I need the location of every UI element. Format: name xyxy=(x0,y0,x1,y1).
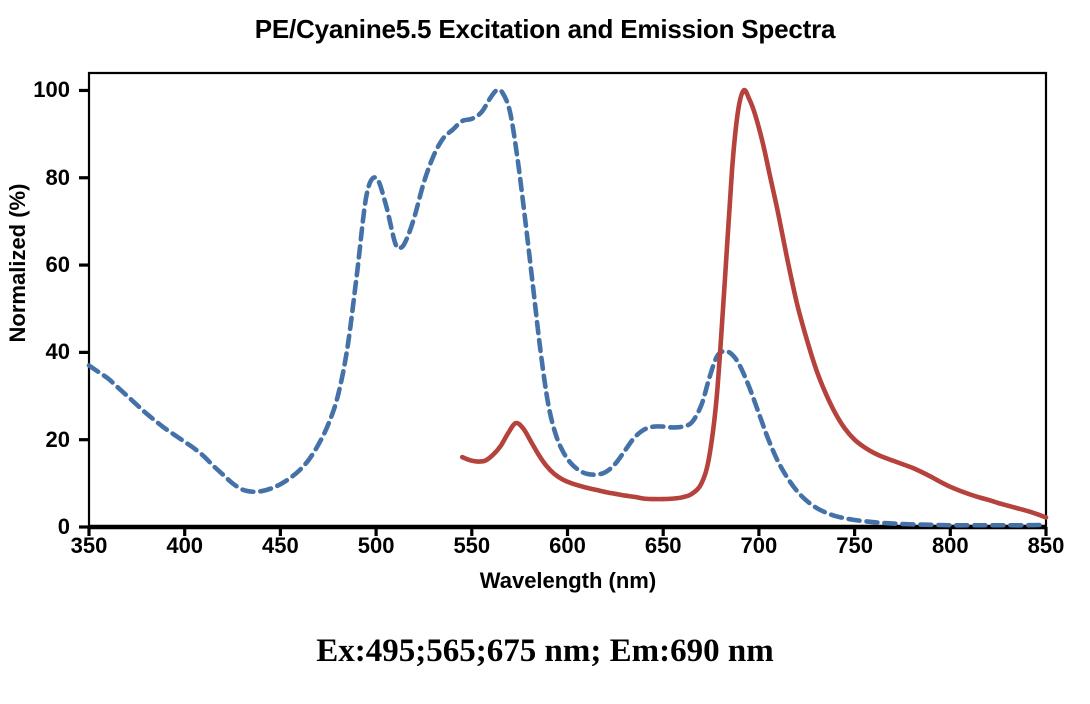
figure-caption: Ex:495;565;675 nm; Em:690 nm xyxy=(0,633,1090,670)
series-line-emission xyxy=(462,90,1046,517)
series-line-excitation xyxy=(89,90,1046,525)
plot-area xyxy=(0,0,1090,704)
plot-frame xyxy=(89,73,1046,527)
spectra-figure: PE/Cyanine5.5 Excitation and Emission Sp… xyxy=(0,0,1090,704)
